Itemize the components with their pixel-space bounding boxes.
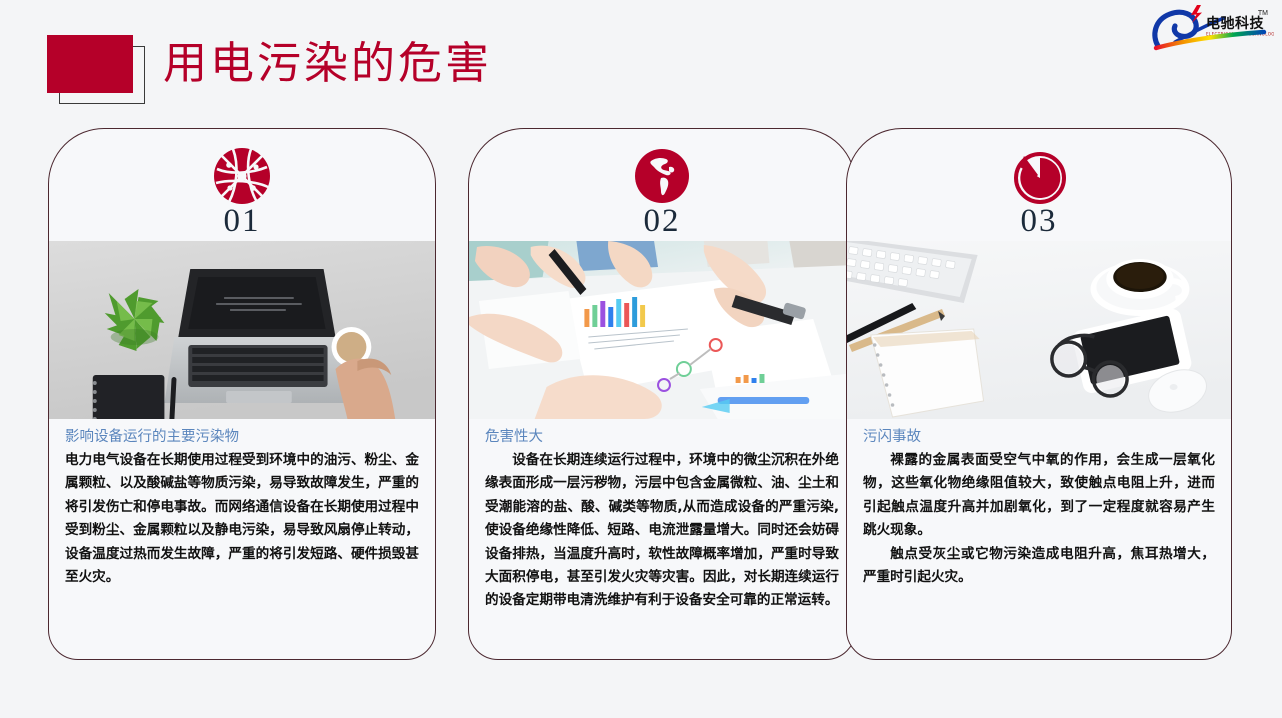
white-desk-keyboard-coffee-phone-photo [847,241,1231,419]
page-title: 用电污染的危害 [163,27,492,91]
team-hands-charts-documents-photo [469,241,855,419]
card-paragraph: 电力电气设备在长期使用过程受到环境中的油污、粉尘、金属颗粒、以及酸碱盐等物质污染… [65,449,419,589]
pie-slice-circle-icon [847,145,1231,207]
card-body: 污闪事故 裸露的金属表面受空气中氧的作用，会生成一层氧化物，这些氧化物绝缘阻值较… [847,425,1231,589]
svg-text:电驰科技: 电驰科技 [1206,15,1264,32]
info-card-03[interactable]: 03 [846,128,1232,660]
network-sphere-icon [49,145,435,207]
card-heading: 危害性大 [485,425,839,446]
trademark-symbol: TM [1258,10,1268,17]
cards-row: 01 [0,128,1282,668]
card-number: 02 [469,203,855,240]
info-card-01[interactable]: 01 [48,128,436,660]
card-number: 01 [49,203,435,240]
card-number: 03 [847,203,1231,240]
globe-americas-icon [469,145,855,207]
card-paragraph: 触点受灰尘或它物污染造成电阻升高，焦耳热增大，严重时引起火灾。 [863,543,1215,590]
card-body: 危害性大 设备在长期连续运行过程中，环境中的微尘沉积在外绝缘表面形成一层污秽物，… [469,425,855,613]
card-heading: 影响设备运行的主要污染物 [65,425,419,446]
card-heading: 污闪事故 [863,425,1215,446]
slide-root: 电驰科技 ELECTRICAL CHI TECHNOLOGY TM 用电污染的危… [0,0,1282,718]
info-card-02[interactable]: 02 [468,128,856,660]
card-paragraph: 裸露的金属表面受空气中氧的作用，会生成一层氧化物，这些氧化物绝缘阻值较大，致使触… [863,449,1215,543]
card-body: 影响设备运行的主要污染物 电力电气设备在长期使用过程受到环境中的油污、粉尘、金属… [49,425,435,589]
title-accent-square [47,35,133,93]
desk-laptop-plant-coffee-photo [49,241,435,419]
card-paragraph: 设备在长期连续运行过程中，环境中的微尘沉积在外绝缘表面形成一层污秽物，污层中包含… [485,449,839,613]
dianchi-technology-logo: 电驰科技 ELECTRICAL CHI TECHNOLOGY TM [1148,2,1274,52]
